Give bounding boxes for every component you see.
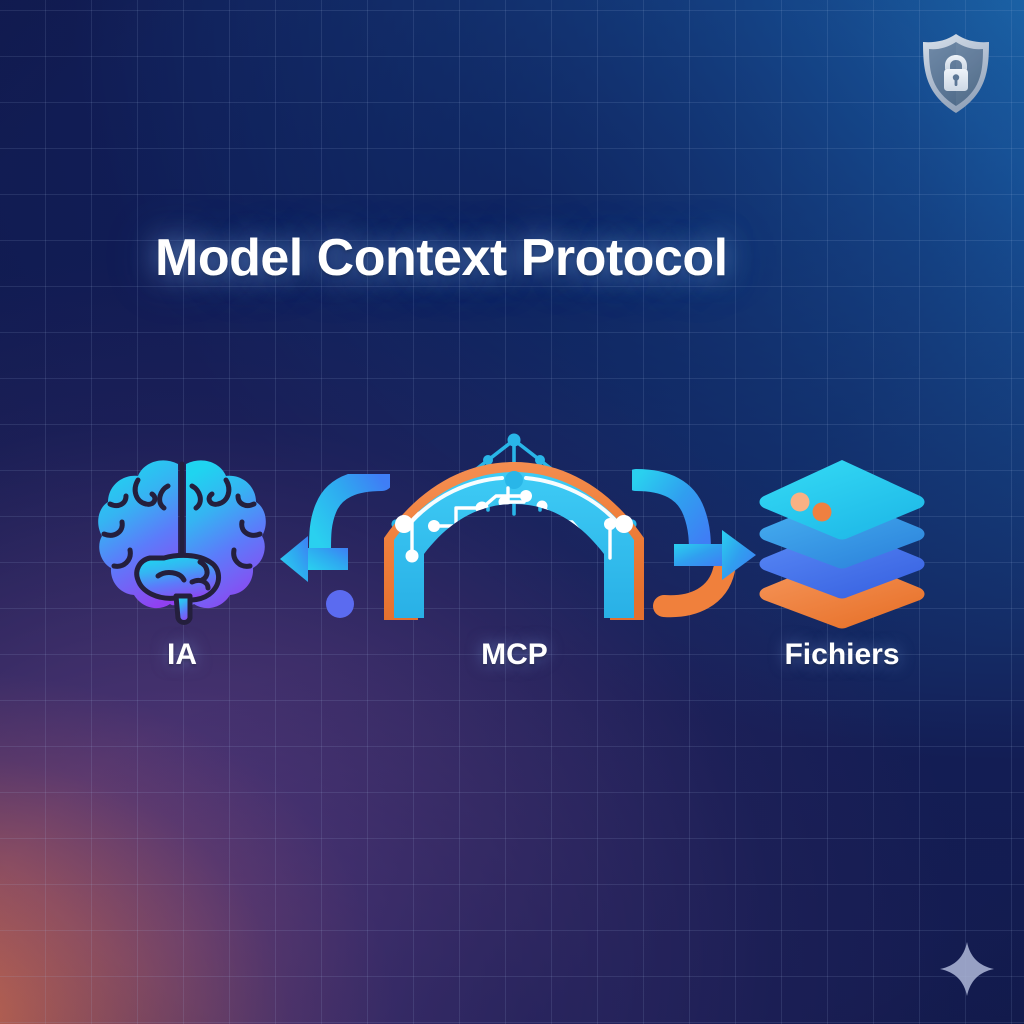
poster-canvas: Model Context Protocol	[0, 0, 1024, 1024]
node-mcp[interactable]: MCP	[372, 428, 657, 693]
accent-dot	[326, 590, 354, 618]
curved-arrow-left-icon	[278, 474, 390, 626]
node-files-label: Fichiers	[752, 638, 932, 672]
shield-lock-icon	[918, 32, 994, 116]
node-mcp-label: MCP	[372, 638, 657, 672]
node-ai[interactable]: IA	[92, 450, 272, 695]
node-ai-label: IA	[92, 638, 272, 672]
curved-arrow-right-icon	[632, 468, 760, 626]
page-title: Model Context Protocol	[155, 228, 728, 288]
four-point-sparkle-icon	[936, 938, 998, 1000]
bridge-circuit-icon	[372, 428, 657, 633]
node-files[interactable]: Fichiers	[752, 450, 932, 695]
stacked-layers-icon	[752, 450, 932, 635]
brain-icon	[92, 450, 272, 635]
